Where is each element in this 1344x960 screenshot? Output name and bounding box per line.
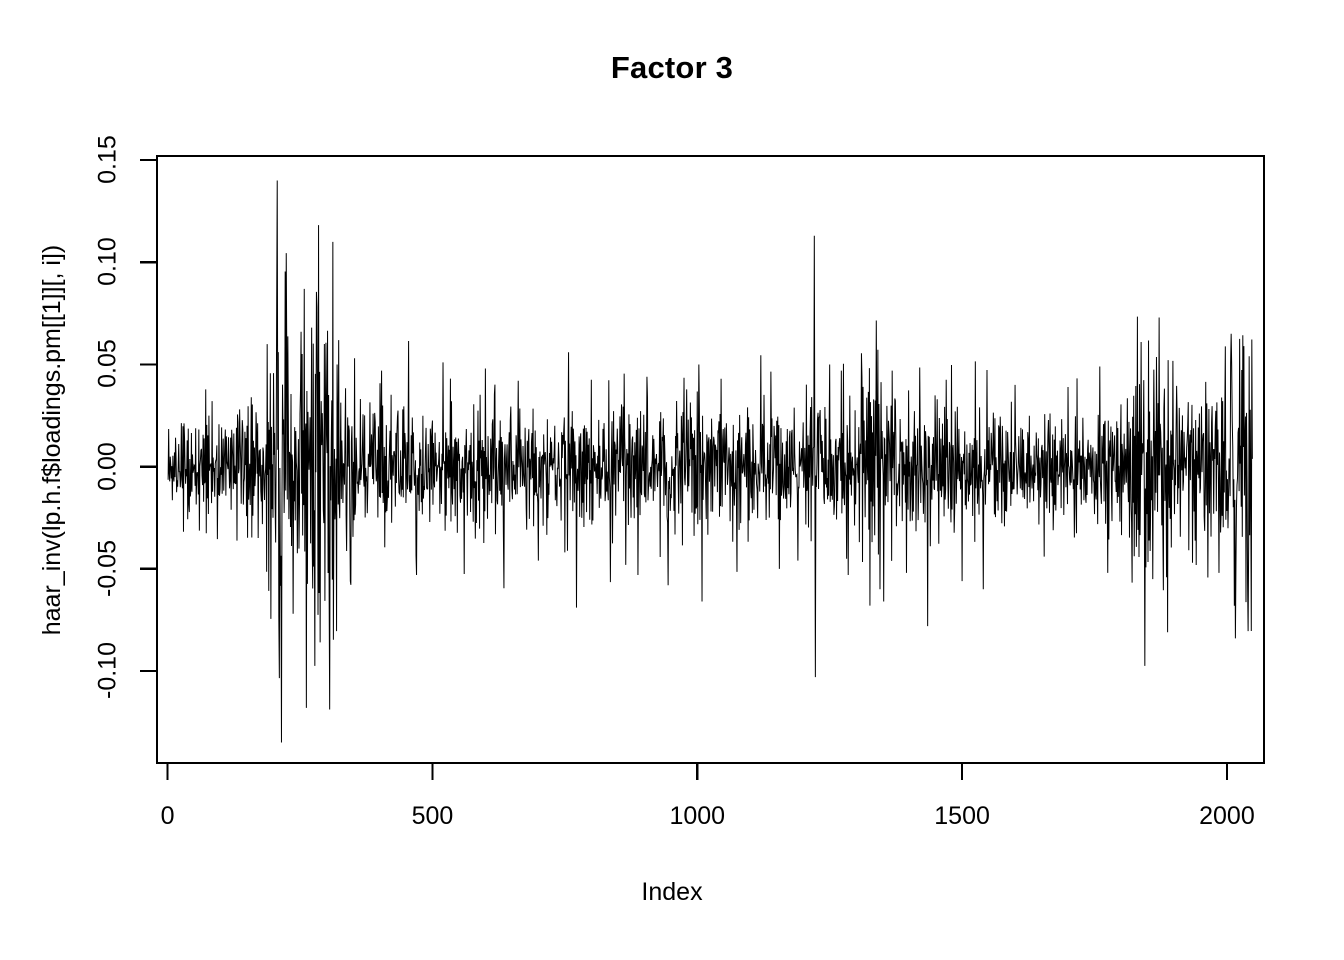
y-tick-label: 0.05 — [96, 304, 121, 424]
y-tick-label: 0.15 — [96, 100, 121, 220]
y-tick-label: 0.10 — [96, 202, 121, 322]
x-tick-label: 0 — [88, 804, 248, 829]
x-tick-label: 2000 — [1147, 804, 1307, 829]
x-tick-label: 1500 — [882, 804, 1042, 829]
y-tick-label: -0.10 — [96, 611, 121, 731]
data-series-group — [168, 181, 1252, 743]
y-tick-label: 0.00 — [96, 406, 121, 526]
data-series-line — [168, 181, 1252, 743]
plot-canvas: Factor 3 haar_inv(lp.h.f$loadings.pm[[1]… — [0, 0, 1344, 960]
x-tick-label: 500 — [352, 804, 512, 829]
x-tick-label: 1000 — [617, 804, 777, 829]
